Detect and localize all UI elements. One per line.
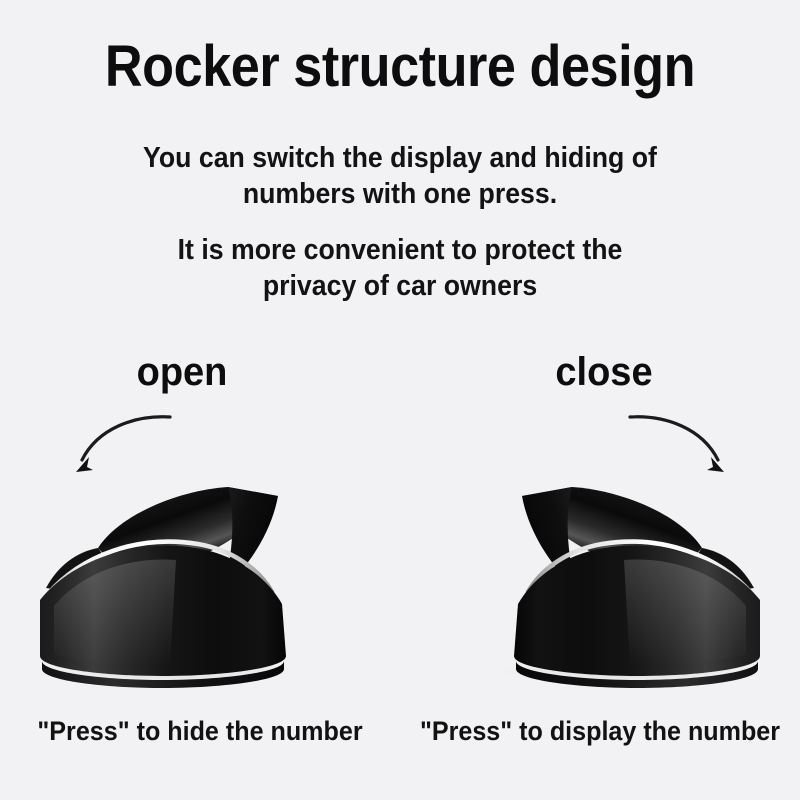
subtitle-secondary: It is more convenient to protect the pri… <box>32 232 768 304</box>
rocker-button-illustration <box>10 470 350 700</box>
product-image-close-state <box>450 470 790 700</box>
product-feature-infographic: Rocker structure design You can switch t… <box>0 0 800 800</box>
state-label-open: open <box>87 348 277 396</box>
page-title: Rocker structure design <box>40 34 760 100</box>
caption-display-number: "Press" to display the number <box>414 714 786 748</box>
subtitle-secondary-line2: privacy of car owners <box>32 268 768 304</box>
caption-hide-number: "Press" to hide the number <box>14 714 386 748</box>
subtitle-primary-line1: You can switch the display and hiding of <box>143 142 657 174</box>
subtitle-secondary-line1: It is more convenient to protect the <box>178 234 623 266</box>
rocker-button-illustration <box>450 470 790 700</box>
state-label-close: close <box>509 348 699 396</box>
subtitle-primary-line2: numbers with one press. <box>32 176 768 212</box>
subtitle-primary: You can switch the display and hiding of… <box>32 140 768 212</box>
product-image-open-state <box>10 470 350 700</box>
